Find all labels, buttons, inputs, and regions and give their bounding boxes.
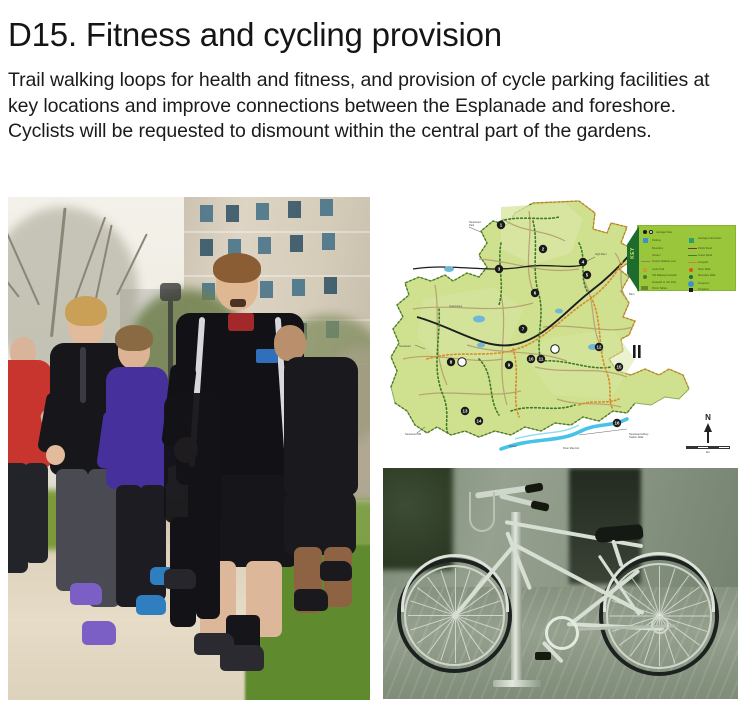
legend-swatch-river-walk (689, 268, 693, 272)
chainring (545, 616, 579, 650)
svg-text:Station: Station (509, 444, 518, 448)
railway-symbol (633, 345, 641, 358)
legend-swatch-footpath (688, 262, 697, 263)
legend-swatch-heritage-information (689, 238, 694, 243)
svg-text:16: 16 (615, 421, 620, 426)
legend-swatch-picnic-tables (641, 286, 648, 290)
north-label: N (694, 413, 722, 422)
north-arrow-stem (707, 432, 709, 443)
legend-label: Parking (652, 239, 661, 242)
legend-swatch-public-road (688, 248, 697, 249)
legend-label: Footpath to Car Park (652, 281, 676, 284)
legend-label: Former Railway Line (652, 260, 676, 263)
svg-text:15: 15 (617, 365, 622, 370)
legend-swatch-railway (641, 261, 650, 262)
brake-cable (469, 492, 495, 532)
cycle-parking-base (493, 680, 541, 687)
svg-text:13: 13 (463, 409, 468, 414)
legend-swatch-cycle-trail (643, 268, 647, 272)
pedal (535, 652, 551, 660)
legend-label: River Walk (698, 268, 710, 271)
map-legend-title: KEY (630, 239, 636, 267)
svg-text:10: 10 (529, 357, 534, 362)
legend-swatch-parking (643, 238, 648, 243)
legend-label: Footpath (698, 261, 708, 264)
legend-swatch-heritage-site-alt (649, 230, 653, 234)
svg-text:Newstead Mill: Newstead Mill (405, 432, 422, 436)
legend-label: Heritage Sites (656, 231, 672, 234)
svg-text:Greenways: Greenways (449, 304, 463, 308)
legend-swatch-old-railway-footpath (643, 275, 647, 279)
legend-swatch-viewpoint (688, 281, 694, 287)
legend-swatch-boundary-walk (689, 275, 693, 279)
svg-text:Newstead: Newstead (399, 344, 411, 348)
legend-swatch-heritage-site (643, 230, 647, 234)
svg-text:12: 12 (597, 345, 602, 350)
svg-text:Station Walk: Station Walk (629, 435, 644, 439)
legend-label: Viewpoint (698, 282, 709, 285)
slide-body-text: Trail walking loops for health and fitne… (8, 68, 736, 145)
joggers-photo (8, 197, 370, 700)
legend-swatch-sculpture (689, 288, 693, 292)
page-title: D15. Fitness and cycling provision (8, 14, 708, 56)
legend-label: Old Railway Footpath (652, 274, 677, 277)
svg-text:High Barn: High Barn (595, 252, 607, 256)
north-arrow-head (704, 423, 712, 432)
svg-text:14: 14 (477, 419, 482, 424)
north-arrow: N (694, 413, 722, 443)
scale-label: km (686, 450, 730, 454)
legend-label: Picnic Tables (652, 287, 667, 290)
svg-text:11: 11 (539, 357, 544, 362)
rear-cog (651, 616, 669, 634)
legend-label: Sculpture (698, 288, 709, 291)
legend-label: Stream (652, 254, 660, 257)
svg-text:River Maunrel: River Maunrel (563, 446, 580, 450)
legend-swatch-green-road (688, 255, 697, 256)
legend-label: Boundary (652, 247, 663, 250)
legend-label: Boundary Walk (698, 274, 716, 277)
legend-label: Cycle Trail (652, 268, 664, 271)
svg-text:Park: Park (469, 223, 475, 227)
heritage-trail-map: 1 2 3 4 5 6 7 8 9 10 11 12 13 14 15 16 (383, 199, 738, 457)
legend-label: Heritage Information (698, 237, 722, 240)
legend-label: Green Road (698, 254, 712, 257)
bicycle-parking-photo (383, 468, 738, 699)
cycle-parking-post (511, 512, 522, 684)
legend-label: Public Road (698, 247, 712, 250)
map-legend-panel: KEY Heritage Sites Parking Boundary Stre… (637, 225, 736, 291)
svg-text:Barn: Barn (629, 292, 635, 296)
slide-canvas: D15. Fitness and cycling provision Trail… (0, 0, 742, 710)
map-scale-bar: km (686, 446, 730, 455)
